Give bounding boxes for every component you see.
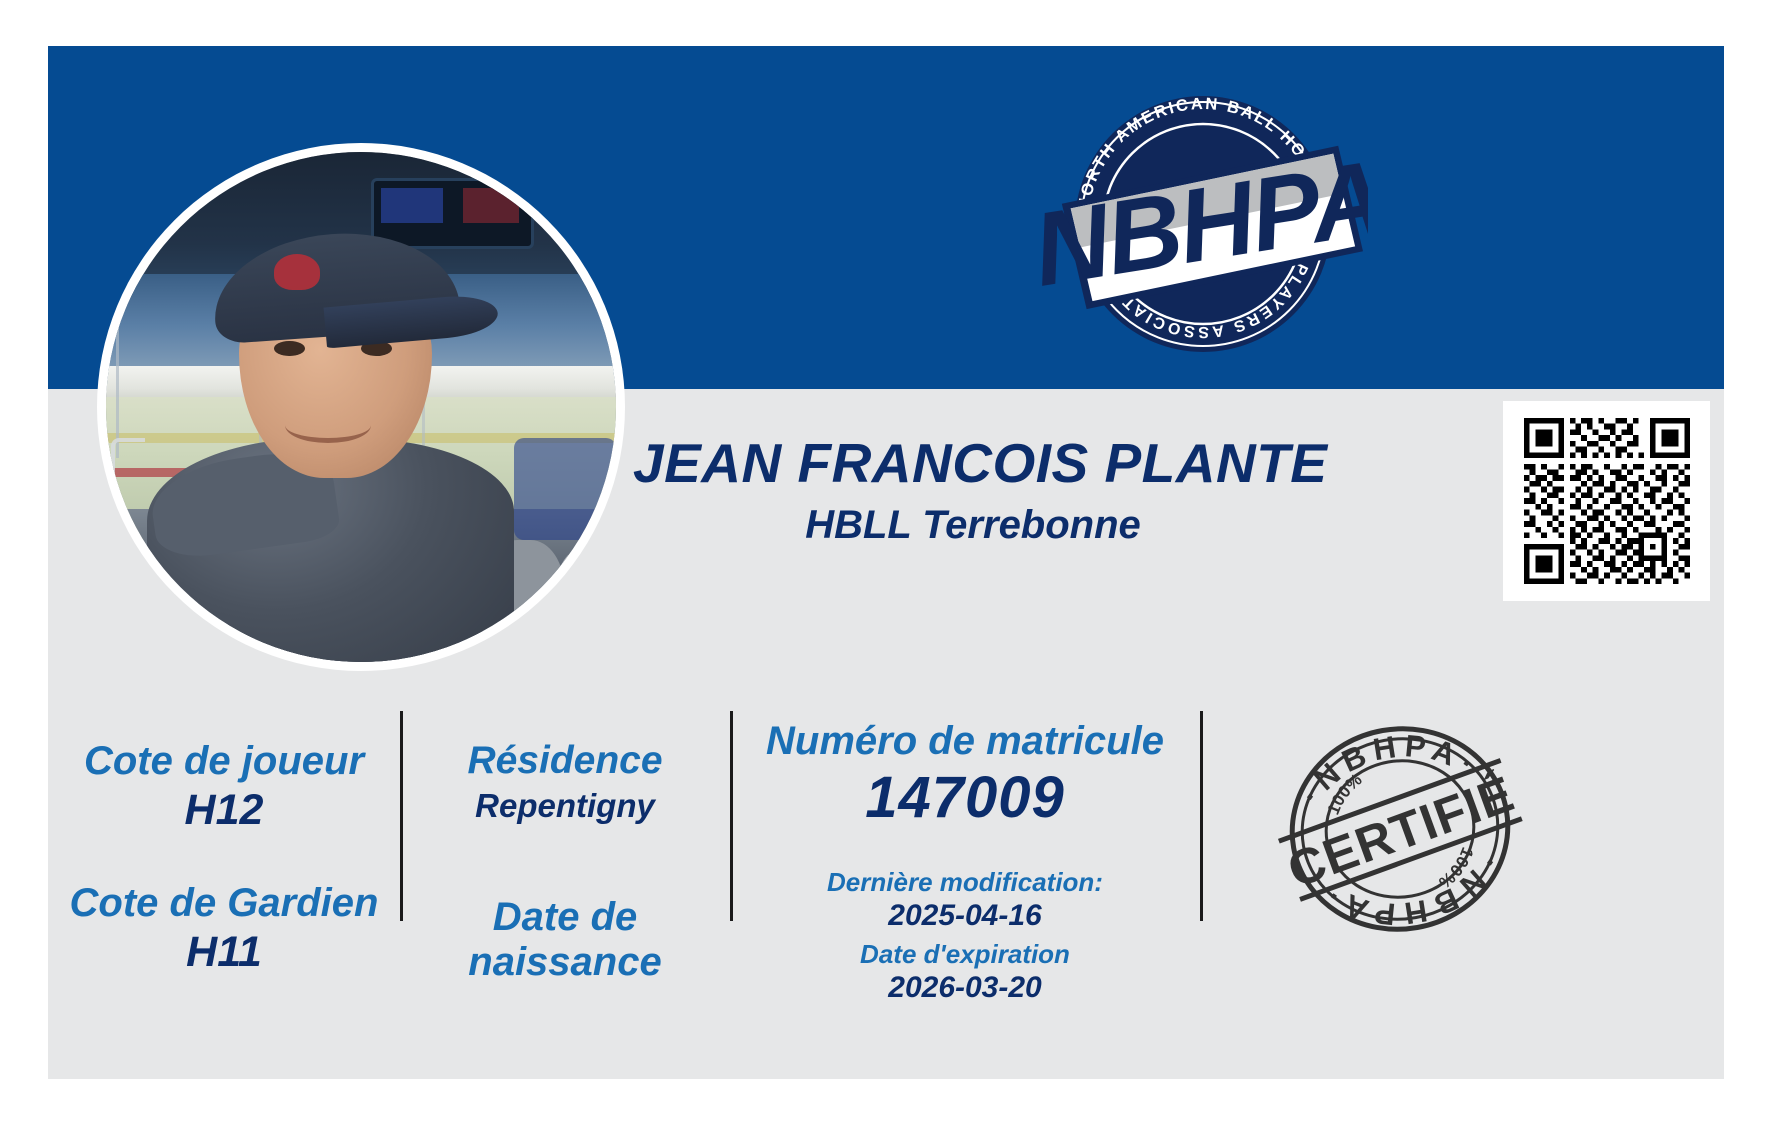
expiry-label: Date d'expiration [730, 939, 1200, 970]
card-info-grid: Cote de joueur H12 Cote de Gardien H11 R… [48, 671, 1724, 1079]
player-rating-label: Cote de joueur [48, 739, 400, 784]
residence-label: Résidence [400, 739, 730, 783]
matricule-group: Numéro de matricule 147009 [730, 719, 1200, 831]
certified-stamp: ·NBHPA· ·NBHPA· 100% 100% [1260, 703, 1540, 948]
ratings-column: Cote de joueur H12 Cote de Gardien H11 [48, 671, 400, 1079]
player-identity: JEAN FRANCOIS PLANTE HBLL Terrebonne [633, 431, 1313, 548]
matricule-label: Numéro de matricule [730, 719, 1200, 764]
player-photo-frame [97, 143, 625, 671]
expiry-value: 2026-03-20 [730, 971, 1200, 1005]
qr-code-container[interactable] [1503, 401, 1710, 601]
player-rating-group: Cote de joueur H12 [48, 739, 400, 835]
page-title: JEAN FRANCOIS PLANTE [633, 431, 1313, 495]
last-modified-value: 2025-04-16 [730, 899, 1200, 933]
birthdate-group: Date de naissance [400, 895, 730, 985]
birthdate-label: Date de naissance [400, 895, 730, 985]
player-photo [106, 152, 616, 662]
qr-code[interactable] [1524, 418, 1690, 584]
certification-column: ·NBHPA· ·NBHPA· 100% 100% [1200, 671, 1724, 1079]
last-modified-group: Dernière modification: 2025-04-16 Date d… [730, 867, 1200, 1005]
last-modified-label: Dernière modification: [730, 867, 1200, 898]
residence-value: Repentigny [400, 787, 730, 825]
matricule-value: 147009 [730, 764, 1200, 831]
nbhpa-logo: NORTH AMERICAN BALL HOCKEY PLAYERS ASSOC… [1038, 64, 1368, 364]
member-id-card: NORTH AMERICAN BALL HOCKEY PLAYERS ASSOC… [48, 46, 1724, 1079]
goalie-rating-value: H11 [48, 928, 400, 977]
goalie-rating-group: Cote de Gardien H11 [48, 881, 400, 977]
matricule-column: Numéro de matricule 147009 Dernière modi… [730, 671, 1200, 1079]
player-rating-value: H12 [48, 786, 400, 835]
player-team: HBLL Terrebonne [633, 503, 1313, 548]
goalie-rating-label: Cote de Gardien [48, 881, 400, 926]
residence-column: Résidence Repentigny Date de naissance [400, 671, 730, 1079]
residence-group: Résidence Repentigny [400, 739, 730, 825]
